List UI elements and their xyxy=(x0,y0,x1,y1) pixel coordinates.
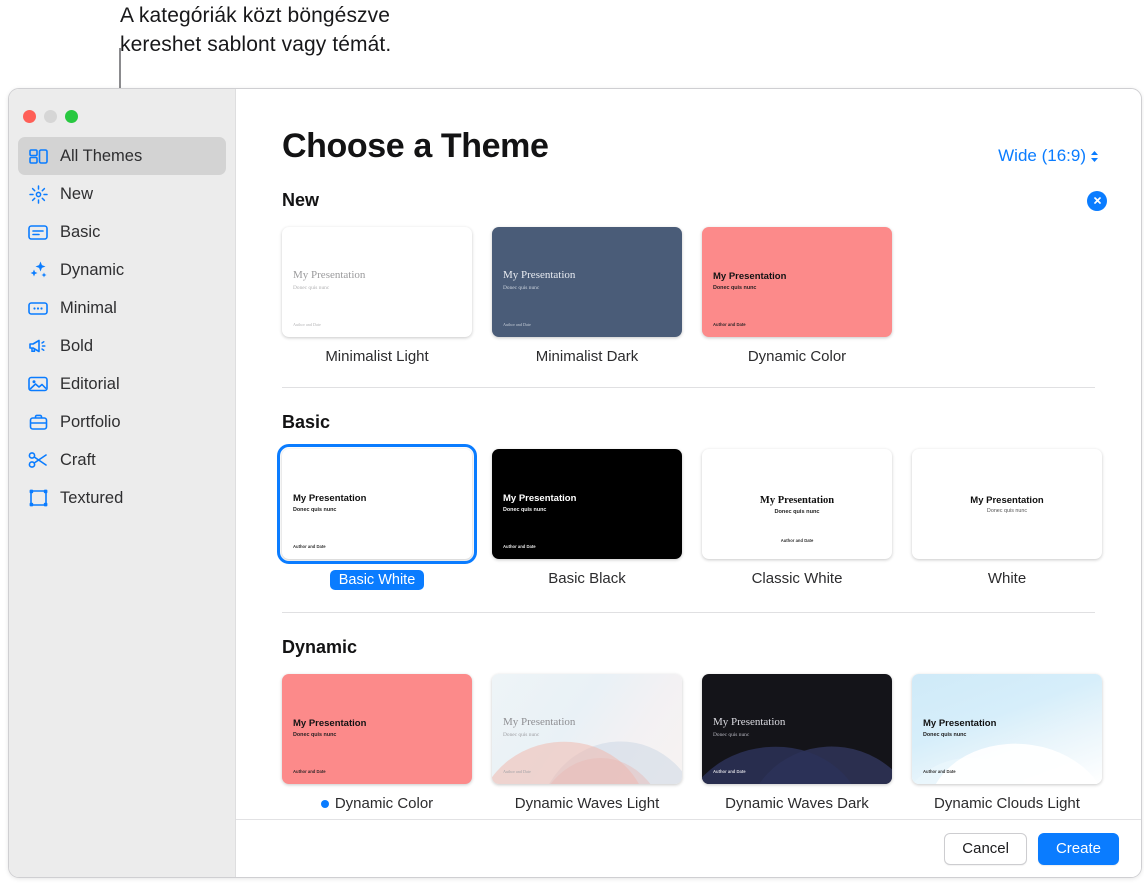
theme-thumbnail-classic-white[interactable]: My Presentation Donec quis nunc Author a… xyxy=(702,449,892,559)
thumb-title: My Presentation xyxy=(293,493,366,504)
thumb-subtitle: Donec quis nunc xyxy=(293,732,336,738)
thumb-author: Author and Date xyxy=(293,322,321,327)
sidebar-item-label: Craft xyxy=(60,451,96,470)
theme-thumb-wrap: My Presentation Donec quis nunc Author a… xyxy=(282,674,472,784)
thumb-title: My Presentation xyxy=(293,718,366,729)
sidebar-item-label: Bold xyxy=(60,337,93,356)
theme-name: Basic Black xyxy=(548,570,626,587)
theme-caption: Dynamic Color xyxy=(702,348,892,365)
chevron-updown-icon xyxy=(1090,150,1099,163)
theme-name: Minimalist Dark xyxy=(536,348,639,365)
scissors-icon xyxy=(27,449,49,471)
thumb-author: Author and Date xyxy=(293,544,326,549)
theme-name: Dynamic Waves Dark xyxy=(725,795,869,812)
theme-name-selected: Basic White xyxy=(330,570,425,590)
theme-thumbnail-dynamic-waves-dark[interactable]: My Presentation Donec quis nunc Author a… xyxy=(702,674,892,784)
theme-caption: Dynamic Waves Dark xyxy=(702,795,892,812)
screenshot-root: A kategóriák közt böngészve kereshet sab… xyxy=(0,0,1144,883)
theme-caption: Basic Black xyxy=(492,570,682,587)
thumb-subtitle: Donec quis nunc xyxy=(503,507,546,513)
thumb-title: My Presentation xyxy=(713,716,785,728)
theme-caption: Minimalist Dark xyxy=(492,348,682,365)
photo-icon xyxy=(27,373,49,395)
theme-thumb-wrap: My Presentation Donec quis nunc Author a… xyxy=(702,449,892,559)
thumb-title: My Presentation xyxy=(503,269,575,281)
section-header-basic: Basic xyxy=(236,388,1141,433)
sidebar-item-label: Textured xyxy=(60,489,123,508)
cancel-button[interactable]: Cancel xyxy=(944,833,1027,865)
sidebar-item-label: Portfolio xyxy=(60,413,121,432)
thumb-author: Author and Date xyxy=(713,322,746,327)
theme-name: Dynamic Waves Light xyxy=(515,795,660,812)
window-traffic-lights xyxy=(9,99,235,137)
sidebar-item-basic[interactable]: Basic xyxy=(18,213,226,251)
theme-grid-basic: My Presentation Donec quis nunc Author a… xyxy=(236,433,1141,590)
sidebar-item-label: All Themes xyxy=(60,147,142,166)
page-title: Choose a Theme xyxy=(282,127,548,166)
theme-cell: My Presentation Donec quis nunc Author a… xyxy=(492,449,702,590)
sidebar-item-label: New xyxy=(60,185,93,204)
theme-thumbnail-dynamic-color[interactable]: My Presentation Donec quis nunc Author a… xyxy=(702,227,892,337)
theme-thumbnail-minimalist-dark[interactable]: My Presentation Donec quis nunc Author a… xyxy=(492,227,682,337)
megaphone-icon xyxy=(27,335,49,357)
theme-chooser-window: All Themes New Basic xyxy=(8,88,1142,878)
sidebar-item-label: Minimal xyxy=(60,299,117,318)
theme-cell: My Presentation Donec quis nunc Author a… xyxy=(492,674,702,812)
thumb-author: Author and Date xyxy=(713,769,746,774)
theme-caption: Minimalist Light xyxy=(282,348,472,365)
close-window-button[interactable] xyxy=(23,110,36,123)
thumb-title: My Presentation xyxy=(923,718,996,729)
theme-thumbnail-dynamic-waves-light[interactable]: My Presentation Donec quis nunc Author a… xyxy=(492,674,682,784)
theme-scroll-area[interactable]: Choose a Theme Wide (16:9) New xyxy=(236,89,1141,819)
sidebar-item-label: Editorial xyxy=(60,375,120,394)
theme-name: Dynamic Clouds Light xyxy=(934,795,1080,812)
theme-thumbnail-minimalist-light[interactable]: My Presentation Donec quis nunc Author a… xyxy=(282,227,472,337)
create-button[interactable]: Create xyxy=(1038,833,1119,865)
section-title-minimal: Minimal xyxy=(236,812,1141,819)
theme-caption: White xyxy=(912,570,1102,587)
card-icon xyxy=(27,221,49,243)
theme-cell: My Presentation Donec quis nunc Author a… xyxy=(282,674,492,812)
sidebar-item-minimal[interactable]: Minimal xyxy=(18,289,226,327)
current-theme-dot-icon xyxy=(321,800,329,808)
thumb-subtitle: Donec quis nunc xyxy=(503,285,539,291)
theme-name: Classic White xyxy=(752,570,843,587)
section-title: New xyxy=(282,190,319,211)
thumb-title: My Presentation xyxy=(713,271,786,282)
theme-cell: My Presentation Donec quis nunc Author a… xyxy=(282,227,492,365)
thumb-author: Author and Date xyxy=(702,538,892,543)
sidebar-item-bold[interactable]: Bold xyxy=(18,327,226,365)
aspect-ratio-value: Wide (16:9) xyxy=(998,146,1086,166)
sidebar-item-portfolio[interactable]: Portfolio xyxy=(18,403,226,441)
callout-text: A kategóriák közt böngészve kereshet sab… xyxy=(120,2,391,60)
theme-thumb-wrap: My Presentation Donec quis nunc Author a… xyxy=(282,449,472,559)
crop-frame-icon xyxy=(27,487,49,509)
theme-thumb-wrap: My Presentation Donec quis nunc Author a… xyxy=(702,227,892,337)
theme-caption: Dynamic Waves Light xyxy=(492,795,682,812)
theme-thumb-wrap: My Presentation Donec quis nunc xyxy=(912,449,1102,559)
thumb-title: My Presentation xyxy=(503,493,576,504)
sidebar: All Themes New Basic xyxy=(9,89,236,877)
dialog-footer: Cancel Create xyxy=(236,819,1141,877)
minimize-window-button[interactable] xyxy=(44,110,57,123)
theme-name: Dynamic Color xyxy=(335,795,433,812)
theme-thumb-wrap: My Presentation Donec quis nunc Author a… xyxy=(912,674,1102,784)
sidebar-item-craft[interactable]: Craft xyxy=(18,441,226,479)
thumb-author: Author and Date xyxy=(293,769,326,774)
thumb-title: My Presentation xyxy=(912,495,1102,506)
thumb-author: Author and Date xyxy=(503,322,531,327)
theme-grid-new: My Presentation Donec quis nunc Author a… xyxy=(236,211,1141,365)
thumb-author: Author and Date xyxy=(923,769,956,774)
theme-grid-dynamic: My Presentation Donec quis nunc Author a… xyxy=(236,658,1141,812)
dots-card-icon xyxy=(27,297,49,319)
theme-caption: Classic White xyxy=(702,570,892,587)
theme-caption: Basic White xyxy=(282,570,472,590)
sidebar-list: All Themes New Basic xyxy=(9,137,235,517)
theme-thumb-wrap: My Presentation Donec quis nunc Author a… xyxy=(492,449,682,559)
sidebar-item-editorial[interactable]: Editorial xyxy=(18,365,226,403)
sidebar-item-label: Dynamic xyxy=(60,261,124,280)
sidebar-item-new[interactable]: New xyxy=(18,175,226,213)
header-row: Choose a Theme Wide (16:9) xyxy=(236,89,1141,166)
briefcase-icon xyxy=(27,411,49,433)
section-header-new: New xyxy=(236,166,1141,211)
thumb-author: Author and Date xyxy=(503,769,531,774)
theme-cell: My Presentation Donec quis nunc Author a… xyxy=(282,449,492,590)
theme-cell: My Presentation Donec quis nunc Author a… xyxy=(912,674,1122,812)
theme-cell: My Presentation Donec quis nunc Author a… xyxy=(702,227,912,365)
sidebar-item-dynamic[interactable]: Dynamic xyxy=(18,251,226,289)
section-title: Dynamic xyxy=(282,637,357,658)
theme-thumbnail-basic-black[interactable]: My Presentation Donec quis nunc Author a… xyxy=(492,449,682,559)
theme-caption: Dynamic Clouds Light xyxy=(912,795,1102,812)
sidebar-item-label: Basic xyxy=(60,223,100,242)
sidebar-item-all-themes[interactable]: All Themes xyxy=(18,137,226,175)
theme-name: Minimalist Light xyxy=(325,348,428,365)
theme-thumb-wrap: My Presentation Donec quis nunc Author a… xyxy=(492,227,682,337)
theme-thumbnail-dynamic-clouds-light[interactable]: My Presentation Donec quis nunc Author a… xyxy=(912,674,1102,784)
thumb-subtitle: Donec quis nunc xyxy=(503,732,539,738)
theme-cell: My Presentation Donec quis nunc Author a… xyxy=(702,674,912,812)
theme-thumbnail-white[interactable]: My Presentation Donec quis nunc xyxy=(912,449,1102,559)
theme-cell: My Presentation Donec quis nunc Author a… xyxy=(492,227,702,365)
zoom-window-button[interactable] xyxy=(65,110,78,123)
sparkles-icon xyxy=(27,259,49,281)
thumb-subtitle: Donec quis nunc xyxy=(702,509,892,515)
thumb-subtitle: Donec quis nunc xyxy=(293,285,329,291)
theme-cell: My Presentation Donec quis nunc White xyxy=(912,449,1122,590)
theme-name: White xyxy=(988,570,1026,587)
theme-name: Dynamic Color xyxy=(748,348,846,365)
thumb-subtitle: Donec quis nunc xyxy=(912,508,1102,514)
section-title: Basic xyxy=(282,412,330,433)
aspect-ratio-stepper[interactable]: Wide (16:9) xyxy=(998,146,1099,166)
all-themes-icon xyxy=(27,145,49,167)
thumb-title: My Presentation xyxy=(503,716,575,728)
thumb-subtitle: Donec quis nunc xyxy=(713,285,756,291)
theme-thumbnail-basic-white[interactable]: My Presentation Donec quis nunc Author a… xyxy=(282,449,472,559)
theme-cell: My Presentation Donec quis nunc Author a… xyxy=(702,449,912,590)
section-header-dynamic: Dynamic xyxy=(236,613,1141,658)
thumb-title: My Presentation xyxy=(293,269,365,281)
thumb-subtitle: Donec quis nunc xyxy=(923,732,966,738)
theme-caption: Dynamic Color xyxy=(282,795,472,812)
thumb-subtitle: Donec quis nunc xyxy=(713,732,749,738)
thumb-title: My Presentation xyxy=(702,495,892,506)
close-section-button[interactable] xyxy=(1087,191,1107,211)
sparkle-burst-icon xyxy=(27,183,49,205)
thumb-author: Author and Date xyxy=(503,544,536,549)
main-panel: Choose a Theme Wide (16:9) New xyxy=(236,89,1141,877)
theme-thumbnail-dynamic-color[interactable]: My Presentation Donec quis nunc Author a… xyxy=(282,674,472,784)
theme-thumb-wrap: My Presentation Donec quis nunc Author a… xyxy=(702,674,892,784)
theme-thumb-wrap: My Presentation Donec quis nunc Author a… xyxy=(282,227,472,337)
thumb-subtitle: Donec quis nunc xyxy=(293,507,336,513)
sidebar-item-textured[interactable]: Textured xyxy=(18,479,226,517)
theme-thumb-wrap: My Presentation Donec quis nunc Author a… xyxy=(492,674,682,784)
